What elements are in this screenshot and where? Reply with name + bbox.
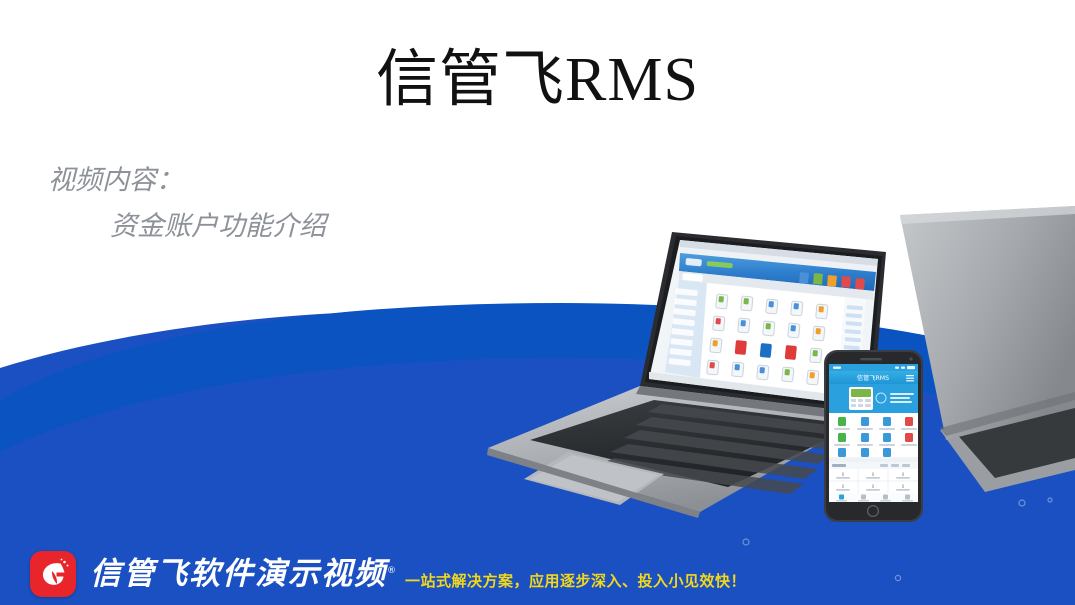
banner-title: 信管飞软件演示视频® — [90, 559, 387, 590]
smartphone-with-mobile-app: 信管飞RMS — [824, 350, 923, 522]
presentation-slide: 信管飞RMS 视频内容： 资金账户功能介绍 — [0, 0, 1075, 605]
svg-text:0: 0 — [842, 472, 845, 477]
bottom-banner: 信管飞软件演示视频® 一站式解决方案，应用逐步深入、投入小见效快！ — [0, 543, 1075, 605]
registered-mark: ® — [387, 556, 398, 587]
svg-text:0: 0 — [872, 472, 875, 477]
phone-app-title: 信管飞RMS — [857, 374, 889, 382]
svg-text:0: 0 — [842, 484, 845, 489]
xinguanfei-bird-logo-icon — [30, 551, 76, 597]
banner-tagline: 一站式解决方案，应用逐步深入、投入小见效快！ — [405, 574, 746, 589]
device-photo-group: 信管飞RMS — [0, 0, 1075, 605]
svg-text:0: 0 — [902, 484, 905, 489]
laptop-rear-view — [900, 206, 1075, 492]
svg-text:0: 0 — [902, 472, 905, 477]
svg-text:0: 0 — [872, 484, 875, 489]
banner-title-text: 信管飞软件演示视频 — [90, 556, 387, 592]
